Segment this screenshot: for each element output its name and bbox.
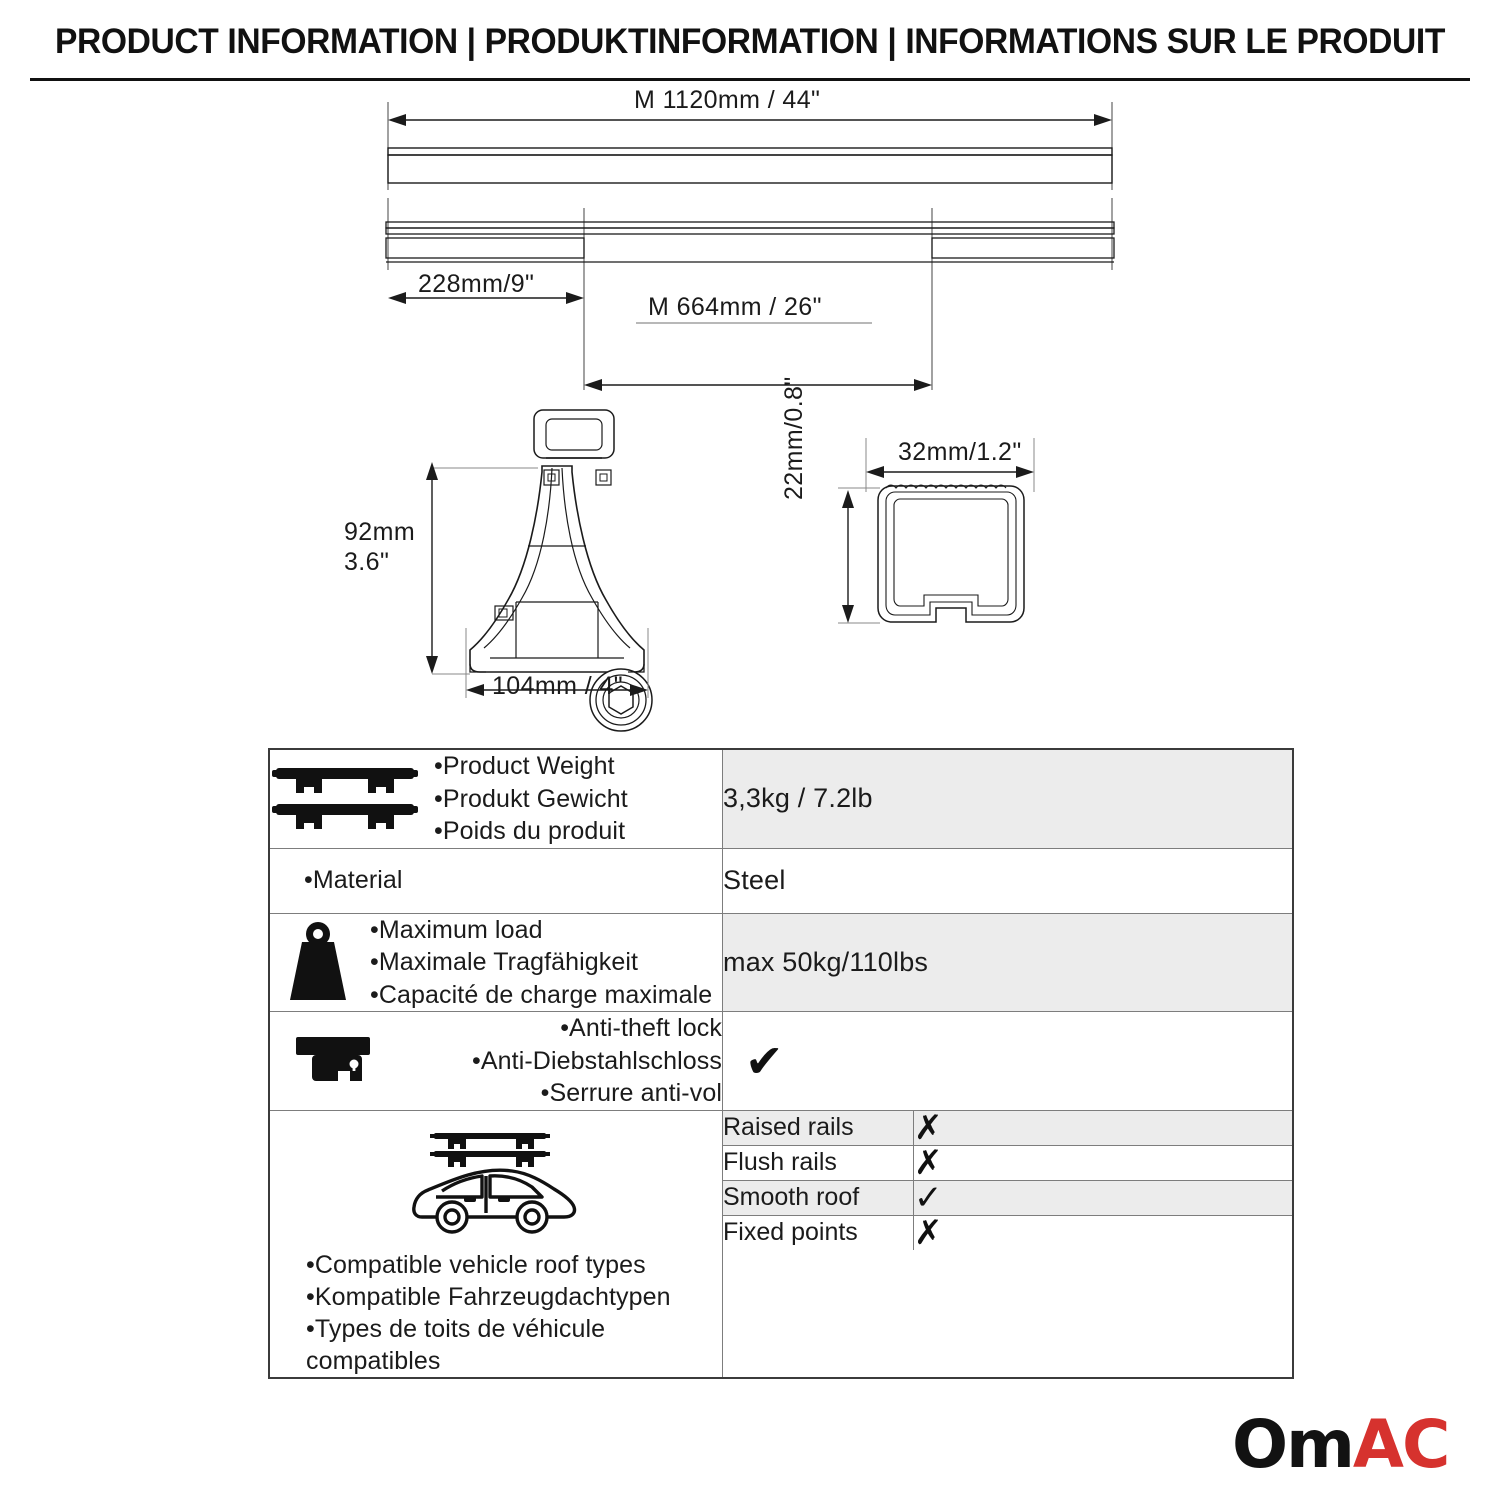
table-row: •Product Weight •Produkt Gewicht •Poids … [269, 749, 1293, 848]
row-labels-maxload: •Maximum load •Maximale Tragfähigkeit •C… [370, 914, 712, 1012]
row-labels-compat: •Compatible vehicle roof types •Kompatib… [270, 1249, 722, 1377]
dimension-profile-width: 32mm/1.2" [898, 438, 1022, 467]
label-line: •Compatible vehicle roof types [306, 1251, 646, 1279]
roof-type-mark-cell: ✗ [914, 1111, 1293, 1146]
weight-icon [270, 920, 356, 1004]
row-value-lock: ✔ [723, 1012, 1294, 1111]
label-line: •Types de toits de véhicule compatibles [306, 1315, 605, 1375]
row-labels-lock: •Anti-theft lock •Anti-Diebstahlschloss … [392, 1012, 722, 1110]
roof-type-name: Flush rails [723, 1145, 914, 1180]
checkmark-icon: ✓ [914, 1178, 943, 1218]
label-line: •Maximale Tragfähigkeit [370, 948, 638, 976]
row-label-cell-material: •Material [269, 848, 723, 913]
row-value-weight: 3,3kg / 7.2lb [723, 749, 1294, 848]
omac-logo: OmAC [1232, 1412, 1448, 1478]
label-line: •Anti-Diebstahlschloss [472, 1047, 722, 1075]
dimension-foot-height-mm: 92mm [344, 518, 415, 547]
cross-icon: ✗ [914, 1213, 943, 1253]
roof-type-row: Flush rails ✗ [723, 1145, 1292, 1180]
roof-type-mark-cell: ✓ [914, 1180, 1293, 1215]
label-line: •Produkt Gewicht [434, 785, 628, 813]
row-value-material: Steel [723, 848, 1294, 913]
page-title-text: PRODUCT INFORMATION | PRODUKTINFORMATION… [30, 22, 1470, 62]
lock-icon [270, 1033, 378, 1089]
label-line: •Poids du produit [434, 817, 625, 845]
roof-type-name: Smooth roof [723, 1180, 914, 1215]
specification-table: •Product Weight •Produkt Gewicht •Poids … [268, 748, 1294, 1379]
label-line: •Capacité de charge maximale [370, 981, 712, 1009]
label-line: •Material [304, 866, 403, 894]
roof-type-row: Raised rails ✗ [723, 1111, 1292, 1146]
roof-types-cell: Raised rails ✗ Flush rails ✗ [723, 1110, 1294, 1378]
row-value-maxload: max 50kg/110lbs [723, 913, 1294, 1012]
row-label-cell-weight: •Product Weight •Produkt Gewicht •Poids … [269, 749, 723, 848]
dimension-foot-offset: 228mm/9" [418, 270, 534, 299]
row-label-cell-compat: •Compatible vehicle roof types •Kompatib… [269, 1110, 723, 1378]
table-row: •Maximum load •Maximale Tragfähigkeit •C… [269, 913, 1293, 1012]
roof-type-mark-cell: ✗ [914, 1215, 1293, 1250]
dimension-foot-height-in: 3.6" [344, 548, 389, 577]
car-with-rack-icon [270, 1125, 722, 1241]
label-line: •Kompatible Fahrzeugdachtypen [306, 1283, 671, 1311]
dimension-bar-length: M 1120mm / 44" [634, 86, 820, 115]
table-row: •Compatible vehicle roof types •Kompatib… [269, 1110, 1293, 1378]
roof-type-row: Fixed points ✗ [723, 1215, 1292, 1250]
product-information-sheet: PRODUCT INFORMATION | PRODUKTINFORMATION… [0, 0, 1500, 1500]
roof-type-name: Raised rails [723, 1111, 914, 1146]
cross-icon: ✗ [914, 1108, 943, 1148]
label-line: •Maximum load [370, 916, 543, 944]
label-line: •Anti-theft lock [560, 1014, 722, 1042]
dimension-foot-span: M 664mm / 26" [648, 293, 822, 322]
drawing-svg [0, 80, 1500, 740]
label-line: •Product Weight [434, 752, 615, 780]
checkmark-icon: ✔ [745, 1034, 784, 1088]
row-label-cell-lock: •Anti-theft lock •Anti-Diebstahlschloss … [269, 1012, 723, 1111]
cross-icon: ✗ [914, 1143, 943, 1183]
table-row: •Material Steel [269, 848, 1293, 913]
technical-drawings: M 1120mm / 44" 228mm/9" M 664mm / 26" 92… [0, 80, 1500, 740]
dimension-foot-width: 104mm / 4" [492, 672, 623, 701]
logo-text-red: AC [1353, 1406, 1449, 1483]
table-row: •Anti-theft lock •Anti-Diebstahlschloss … [269, 1012, 1293, 1111]
roof-type-name: Fixed points [723, 1215, 914, 1250]
label-line: •Serrure anti-vol [541, 1079, 722, 1107]
crossbars-icon [270, 762, 420, 836]
row-labels-weight: •Product Weight •Produkt Gewicht •Poids … [434, 750, 628, 848]
logo-text-black: Om [1232, 1406, 1353, 1483]
row-label-cell-maxload: •Maximum load •Maximale Tragfähigkeit •C… [269, 913, 723, 1012]
roof-type-mark-cell: ✗ [914, 1145, 1293, 1180]
roof-type-row: Smooth roof ✓ [723, 1180, 1292, 1215]
page-title: PRODUCT INFORMATION | PRODUKTINFORMATION… [0, 22, 1500, 62]
roof-types-table: Raised rails ✗ Flush rails ✗ [723, 1111, 1292, 1250]
dimension-profile-height: 22mm/0.8" [780, 376, 809, 500]
row-labels-material: •Material [270, 864, 403, 897]
